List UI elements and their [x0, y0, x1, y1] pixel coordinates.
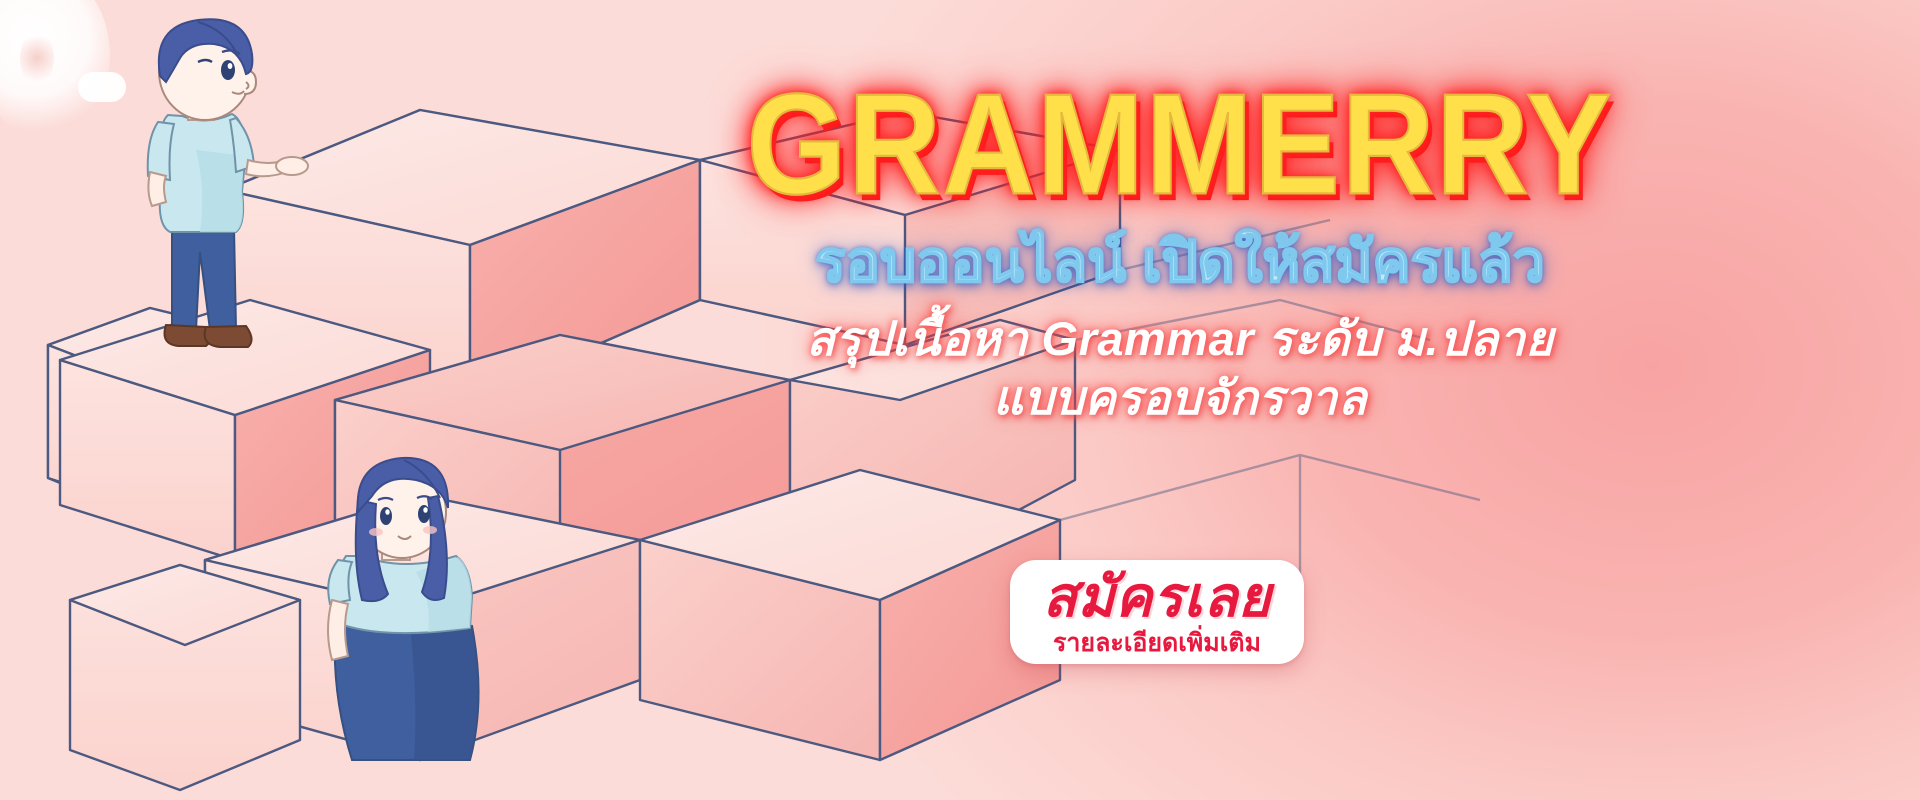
banner-description-line-1: สรุปเนื้อหา Grammar ระดับ ม.ปลาย	[650, 313, 1710, 366]
cta-sub-label: รายละเอียดเพิ่มเติม	[1053, 631, 1261, 656]
banner-description-line-2: แบบครอบจักรวาล	[650, 372, 1710, 425]
cta-main-label: สมัครเลย	[1043, 569, 1271, 625]
page-title: GRAMMERRY	[650, 78, 1710, 213]
banner-copy: GRAMMERRY รอบออนไลน์ เปิดให้สมัครแล้ว สร…	[650, 78, 1710, 425]
register-now-button[interactable]: สมัครเลย รายละเอียดเพิ่มเติม	[1010, 560, 1304, 664]
promo-banner: GRAMMERRY รอบออนไลน์ เปิดให้สมัครแล้ว สร…	[0, 0, 1920, 800]
block-bottom-left	[70, 565, 300, 790]
banner-subtitle: รอบออนไลน์ เปิดให้สมัครแล้ว	[650, 234, 1710, 291]
